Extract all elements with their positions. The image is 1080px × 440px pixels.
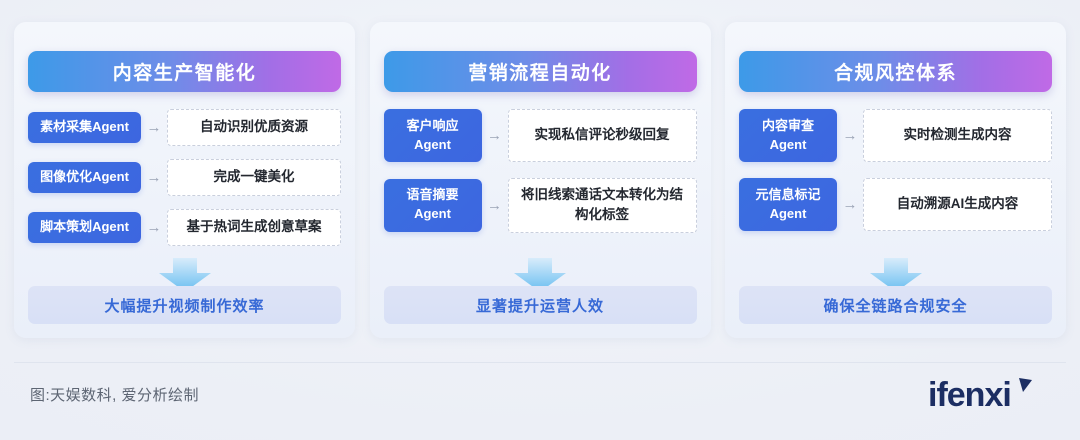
arrow-right-icon: → xyxy=(482,198,508,213)
agent-box-1-2[interactable]: 图像优化Agent xyxy=(28,162,141,193)
agent-box-2-2[interactable]: 语音摘要 Agent xyxy=(384,179,482,232)
result-band-3: 确保全链路合规安全 xyxy=(739,286,1052,324)
rows-3: 内容审查 Agent → 实时检测生成内容 元信息标记 Agent → 自动溯源… xyxy=(739,109,1052,231)
rows-2: 客户响应 Agent → 实现私信评论秒级回复 语音摘要 Agent → 将旧线… xyxy=(384,109,697,233)
agent-box-1-1[interactable]: 素材采集Agent xyxy=(28,112,141,143)
ifenxi-logo: ifenxi xyxy=(926,374,1044,416)
agent-label-line2: Agent xyxy=(770,136,807,155)
row-2-2: 语音摘要 Agent → 将旧线索通话文本转化为结构化标签 xyxy=(384,178,697,233)
agent-label-line1: 内容审查 xyxy=(762,117,814,136)
result-band-2: 显著提升运营人效 xyxy=(384,286,697,324)
agent-label-line1: 语音摘要 xyxy=(406,186,458,205)
desc-box-1-1: 自动识别优质资源 xyxy=(167,109,341,146)
row-3-2: 元信息标记 Agent → 自动溯源AI生成内容 xyxy=(739,178,1052,231)
agent-box-3-1[interactable]: 内容审查 Agent xyxy=(739,109,837,162)
agent-box-1-3[interactable]: 脚本策划Agent xyxy=(28,212,141,243)
arrow-right-icon: → xyxy=(837,197,863,212)
rows-1: 素材采集Agent → 自动识别优质资源 图像优化Agent → 完成一键美化 … xyxy=(28,109,341,246)
arrow-right-icon: → xyxy=(141,120,167,135)
result-band-1: 大幅提升视频制作效率 xyxy=(28,286,341,324)
agent-label-line1: 图像优化Agent xyxy=(40,168,129,187)
agent-label-line2: Agent xyxy=(770,205,807,224)
agent-label-line2: Agent xyxy=(414,205,451,224)
desc-box-1-2: 完成一键美化 xyxy=(167,159,341,196)
agent-label-line1: 素材采集Agent xyxy=(40,118,129,137)
svg-text:ifenxi: ifenxi xyxy=(928,376,1011,414)
agent-box-2-1[interactable]: 客户响应 Agent xyxy=(384,109,482,162)
agent-label-line2: Agent xyxy=(414,136,451,155)
row-3-1: 内容审查 Agent → 实时检测生成内容 xyxy=(739,109,1052,162)
column-compliance-risk-control: 合规风控体系 内容审查 Agent → 实时检测生成内容 元信息标记 Agent… xyxy=(725,22,1066,338)
arrow-right-icon: → xyxy=(141,170,167,185)
agent-label-line1: 脚本策划Agent xyxy=(40,218,129,237)
column-content-production: 内容生产智能化 素材采集Agent → 自动识别优质资源 图像优化Agent →… xyxy=(14,22,355,338)
desc-box-2-1: 实现私信评论秒级回复 xyxy=(508,109,697,162)
desc-box-1-3: 基于热词生成创意草案 xyxy=(167,209,341,246)
column-header-3: 合规风控体系 xyxy=(739,51,1052,92)
desc-box-2-2: 将旧线索通话文本转化为结构化标签 xyxy=(508,178,697,233)
column-marketing-automation: 营销流程自动化 客户响应 Agent → 实现私信评论秒级回复 语音摘要 Age… xyxy=(370,22,711,338)
agent-label-line1: 客户响应 xyxy=(406,117,458,136)
arrow-right-icon: → xyxy=(141,220,167,235)
agent-box-3-2[interactable]: 元信息标记 Agent xyxy=(739,178,837,231)
footer-divider xyxy=(14,362,1066,363)
source-caption: 图:天娱数科, 爱分析绘制 xyxy=(30,384,199,405)
row-1-1: 素材采集Agent → 自动识别优质资源 xyxy=(28,109,341,146)
row-2-1: 客户响应 Agent → 实现私信评论秒级回复 xyxy=(384,109,697,162)
infographic-page: 内容生产智能化 素材采集Agent → 自动识别优质资源 图像优化Agent →… xyxy=(0,0,1080,440)
desc-box-3-2: 自动溯源AI生成内容 xyxy=(863,178,1052,231)
desc-box-3-1: 实时检测生成内容 xyxy=(863,109,1052,162)
arrow-right-icon: → xyxy=(482,128,508,143)
agent-label-line1: 元信息标记 xyxy=(755,186,820,205)
arrow-right-icon: → xyxy=(837,128,863,143)
row-1-2: 图像优化Agent → 完成一键美化 xyxy=(28,159,341,196)
row-1-3: 脚本策划Agent → 基于热词生成创意草案 xyxy=(28,209,341,246)
columns-container: 内容生产智能化 素材采集Agent → 自动识别优质资源 图像优化Agent →… xyxy=(14,22,1066,342)
column-header-2: 营销流程自动化 xyxy=(384,51,697,92)
column-header-1: 内容生产智能化 xyxy=(28,51,341,92)
